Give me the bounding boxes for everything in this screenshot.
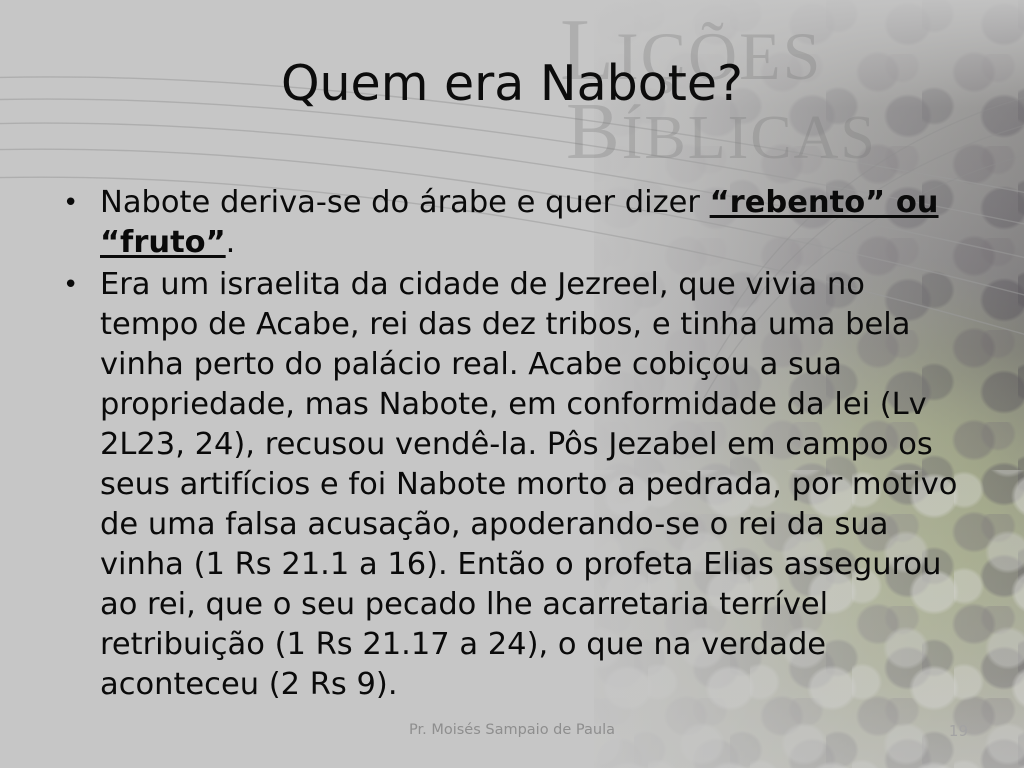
slide-title: Quem era Nabote? bbox=[0, 58, 1024, 109]
footer-author: Pr. Moisés Sampaio de Paula bbox=[0, 722, 1024, 738]
bullet-item: • Era um israelita da cidade de Jezreel,… bbox=[54, 265, 990, 705]
slide-page-number: 19 bbox=[949, 722, 968, 740]
bullet-text: Era um israelita da cidade de Jezreel, q… bbox=[100, 265, 972, 705]
watermark-line-2-rest: ÍBLICAS bbox=[622, 104, 877, 172]
bullet-text: Nabote deriva-se do árabe e quer dizer “… bbox=[100, 183, 990, 263]
bullet-marker: • bbox=[54, 183, 100, 223]
bullet-segment-plain: Nabote deriva-se do árabe e quer dizer bbox=[100, 185, 710, 220]
bullet-item: • Nabote deriva-se do árabe e quer dizer… bbox=[54, 183, 990, 263]
slide-body: • Nabote deriva-se do árabe e quer dizer… bbox=[54, 183, 990, 707]
bullet-marker: • bbox=[54, 265, 100, 305]
bullet-segment-trailing: . bbox=[226, 225, 236, 260]
presentation-slide: LIÇÕES BÍBLICAS Quem era Nabote? • Nabot… bbox=[0, 0, 1024, 768]
